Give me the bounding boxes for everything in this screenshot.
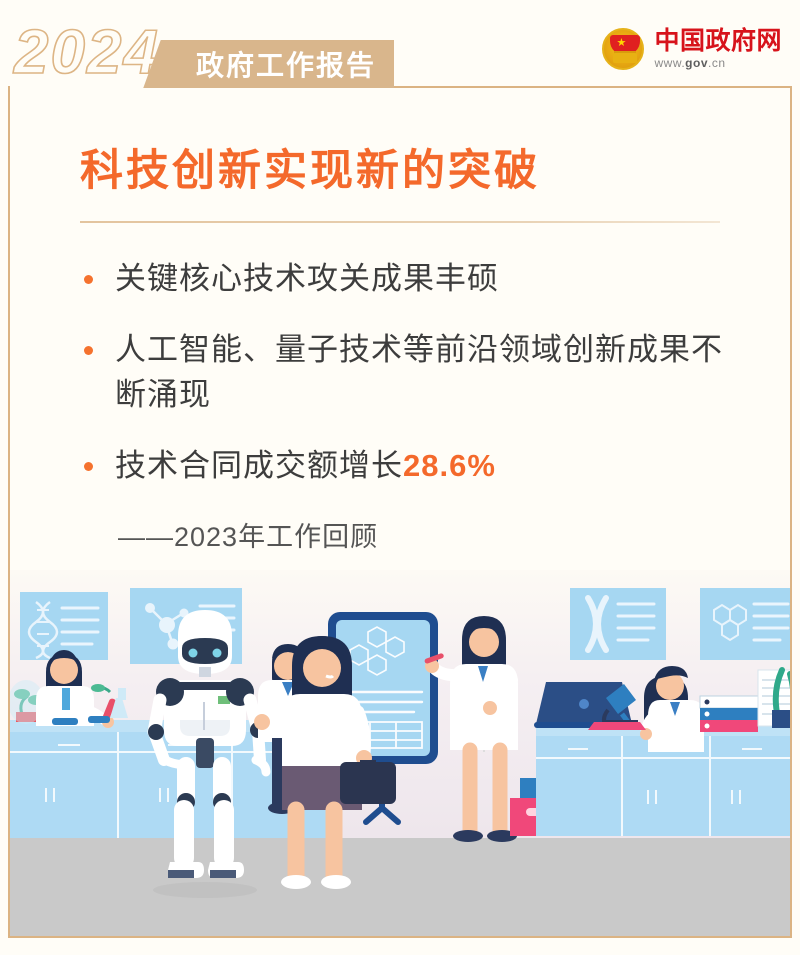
poster-header: 2024 政府工作报告 ★ 中国政府网 www.gov.cn [0,0,800,96]
bullet-text: 人工智能、量子技术等前沿领域创新成果不断涌现 [115,328,730,418]
emblem-star-icon: ★ [616,38,626,49]
list-item: 关键核心技术攻关成果丰硕 [80,257,730,302]
bullet-dot-icon [84,462,93,471]
logo-url-bold: gov [685,56,708,70]
list-item: 人工智能、量子技术等前沿领域创新成果不断涌现 [80,328,730,418]
page-title: 科技创新实现新的突破 [80,148,800,195]
frame-border-bottom [8,936,792,938]
poster-chromosome-icon [570,588,666,660]
poster-hexagon-molecule-icon [700,588,790,660]
logo-url-suffix: .cn [708,56,726,70]
footnote: ——2023年工作回顾 [118,515,800,554]
report-tag-label: 政府工作报告 [170,40,394,88]
logo-text-block: 中国政府网 www.gov.cn [654,28,782,69]
poster-dna-helix-icon [20,592,108,660]
logo-url-prefix: www. [654,56,685,70]
bullet-dot-icon [84,346,93,355]
bullet-text-plain: 技术合同成交额增长 [115,448,403,483]
binder-stack [700,696,758,732]
gov-logo[interactable]: ★ 中国政府网 www.gov.cn [602,28,782,70]
lab-illustration-svg [10,570,790,936]
floor [10,838,790,936]
title-divider [80,221,720,223]
lab-illustration [10,570,790,936]
logo-url: www.gov.cn [654,56,782,70]
national-emblem-icon: ★ [602,28,644,70]
list-item: 技术合同成交额增长28.6% [80,444,730,489]
logo-name-cn: 中国政府网 [654,28,782,54]
bullet-text: 技术合同成交额增长28.6% [115,444,496,489]
bullet-dot-icon [84,275,93,284]
poster-content: 科技创新实现新的突破 关键核心技术攻关成果丰硕 人工智能、量子技术等前沿领域创新… [0,96,800,554]
bullet-text: 关键核心技术攻关成果丰硕 [115,257,499,302]
year-label: 2024 [14,22,160,84]
infographic-poster: 2024 政府工作报告 ★ 中国政府网 www.gov.cn 科技创新实现新的突… [0,0,800,955]
stat-highlight: 28.6% [403,448,496,483]
bullet-list: 关键核心技术攻关成果丰硕 人工智能、量子技术等前沿领域创新成果不断涌现 技术合同… [80,257,730,489]
